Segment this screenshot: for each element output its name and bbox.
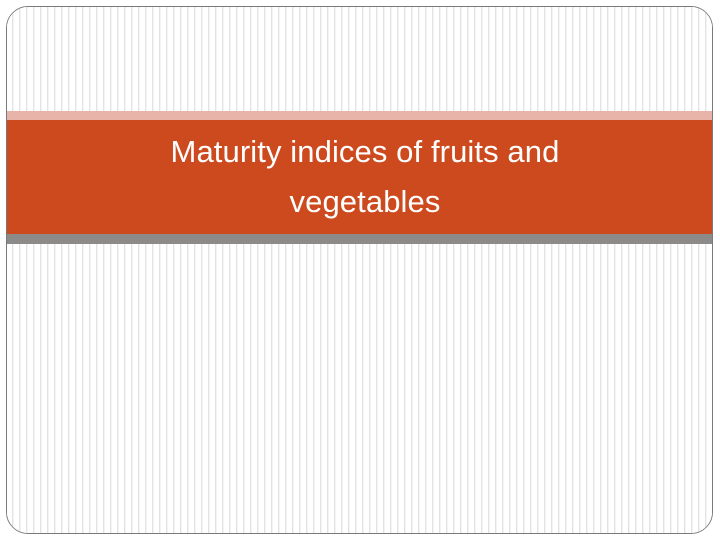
- title-band-shadow: [7, 234, 712, 244]
- page-title: Maturity indices of fruits and vegetable…: [120, 127, 610, 227]
- pinstripe-background: [7, 7, 712, 533]
- title-slide: Maturity indices of fruits and vegetable…: [0, 0, 720, 540]
- title-placeholder: Maturity indices of fruits and vegetable…: [120, 120, 610, 234]
- title-band-highlight: [7, 111, 712, 120]
- slide-frame: Maturity indices of fruits and vegetable…: [6, 6, 713, 534]
